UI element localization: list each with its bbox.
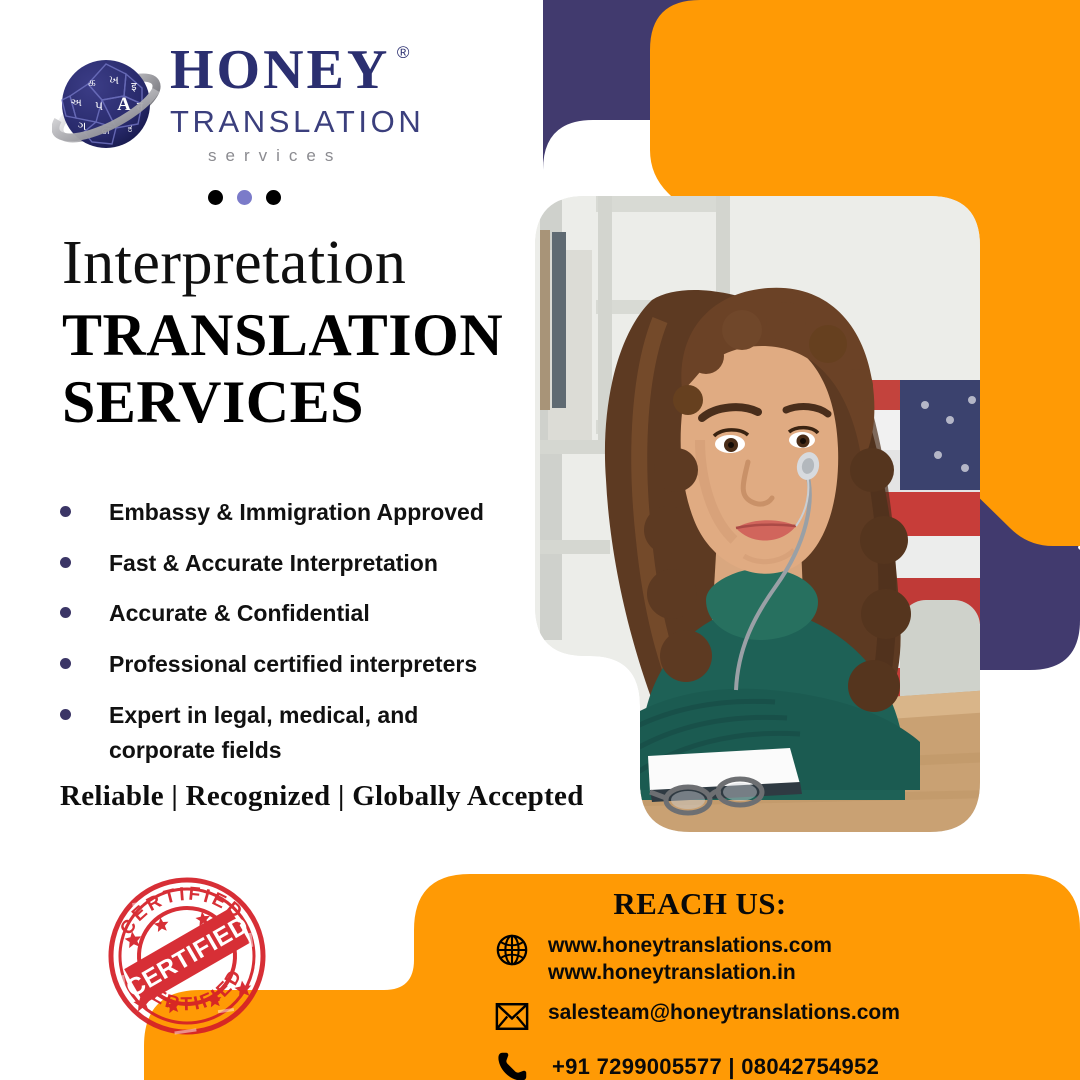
logo-dots <box>208 190 281 205</box>
phone-value: +91 7299005577 | 08042754952 <box>552 1047 879 1080</box>
feature-list: Embassy & Immigration Approved Fast & Ac… <box>52 495 522 784</box>
website-secondary[interactable]: www.honeytranslation.in <box>548 959 832 986</box>
envelope-icon <box>492 997 532 1037</box>
svg-text:અ: અ <box>70 97 82 109</box>
list-item: Embassy & Immigration Approved <box>52 495 522 531</box>
logo-brand-text: HONEY <box>170 39 390 101</box>
svg-text:ગ: ગ <box>78 119 87 133</box>
svg-text:ಕ: ಕ <box>128 123 133 135</box>
globe-languages-icon: க ખ इ અ પ A त ગ எ ಕ <box>52 50 164 162</box>
contact-row-phone[interactable]: +91 7299005577 | 08042754952 <box>492 1047 1080 1080</box>
certified-stamp-icon: CERTIFIED CERTIFIED CERTIFIED <box>100 866 275 1041</box>
logo-line-translation: TRANSLATION <box>170 104 470 140</box>
contact-row-website[interactable]: www.honeytranslations.com www.honeytrans… <box>492 930 1080 987</box>
list-item: Expert in legal, medical, and corporate … <box>52 698 522 769</box>
logo-line-services: services <box>208 146 470 166</box>
contact-footer: REACH US: www.honeytranslations.com www <box>420 872 1080 1080</box>
bullet-icon <box>60 709 71 720</box>
bullet-icon <box>60 658 71 669</box>
email-value: salesteam@honeytranslations.com <box>548 997 900 1026</box>
dot-3 <box>266 190 281 205</box>
logo-brand-name: HONEY ® <box>170 42 390 98</box>
email-address[interactable]: salesteam@honeytranslations.com <box>548 1001 900 1024</box>
headline-bold-line-2: SERVICES <box>62 369 532 436</box>
headline-bold-line-1: TRANSLATION <box>62 302 532 369</box>
svg-text:க: க <box>88 75 96 89</box>
bullet-icon <box>60 557 71 568</box>
svg-text:ખ: ખ <box>109 73 119 87</box>
dot-1 <box>208 190 223 205</box>
list-item: Accurate & Confidential <box>52 596 522 632</box>
list-item-label: Fast & Accurate Interpretation <box>109 546 438 582</box>
logo-wordmark: HONEY ® TRANSLATION services <box>170 42 470 166</box>
list-item-label: Expert in legal, medical, and corporate … <box>109 698 449 769</box>
dot-2 <box>237 190 252 205</box>
headline-block: Interpretation TRANSLATION SERVICES <box>62 232 532 436</box>
reach-us-title: REACH US: <box>420 886 980 922</box>
list-item: Fast & Accurate Interpretation <box>52 546 522 582</box>
list-item-label: Professional certified interpreters <box>109 647 477 683</box>
poster-canvas: க ખ इ અ પ A त ગ எ ಕ HONEY ® TRANSLATION … <box>0 0 1080 1080</box>
headline-script-line: Interpretation <box>62 232 532 294</box>
website-primary[interactable]: www.honeytranslations.com <box>548 932 832 959</box>
svg-text:પ: પ <box>95 98 103 113</box>
list-item: Professional certified interpreters <box>52 647 522 683</box>
phone-icon <box>492 1047 532 1080</box>
globe-icon <box>492 930 532 970</box>
contact-list: www.honeytranslations.com www.honeytrans… <box>492 930 1080 1080</box>
registered-mark: ® <box>397 44 413 61</box>
list-item-label: Accurate & Confidential <box>109 596 370 632</box>
svg-text:इ: इ <box>131 81 137 93</box>
phone-numbers[interactable]: +91 7299005577 | 08042754952 <box>552 1054 879 1079</box>
bullet-icon <box>60 607 71 618</box>
contact-row-email[interactable]: salesteam@honeytranslations.com <box>492 997 1080 1037</box>
website-values: www.honeytranslations.com www.honeytrans… <box>548 930 832 987</box>
interpreter-photo <box>520 190 1000 840</box>
tagline: Reliable | Recognized | Globally Accepte… <box>60 780 584 813</box>
list-item-label: Embassy & Immigration Approved <box>109 495 484 531</box>
bullet-icon <box>60 506 71 517</box>
